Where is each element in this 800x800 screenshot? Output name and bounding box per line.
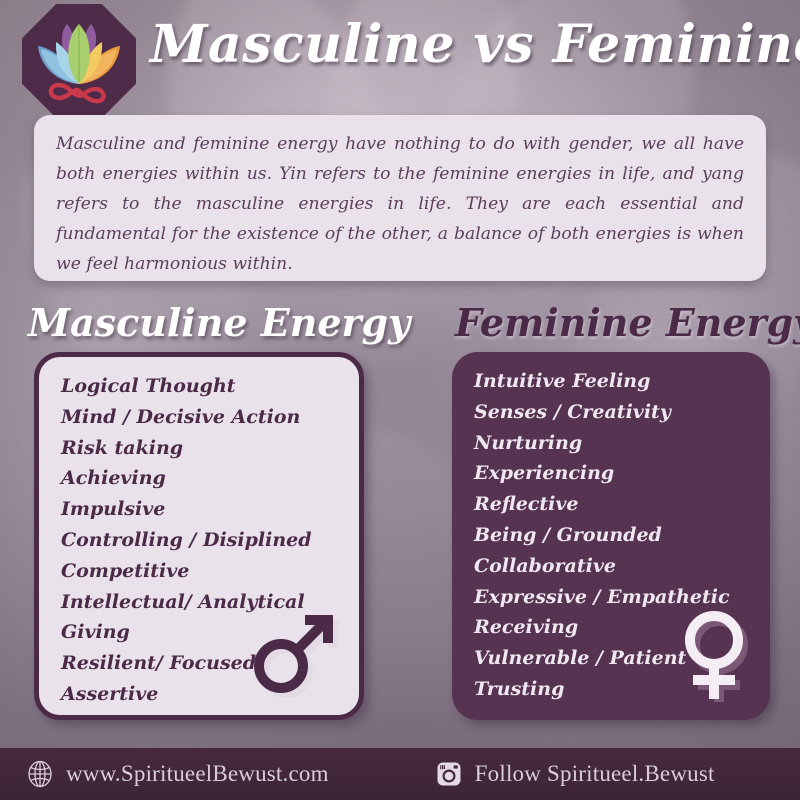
footer-bar: www.SpiritueelBewust.com Follow Spiritue… bbox=[0, 748, 800, 800]
list-item: Achieving bbox=[61, 463, 349, 494]
list-item: Being / Grounded bbox=[474, 520, 760, 551]
masculine-section-heading: Masculine Energy bbox=[28, 300, 410, 345]
list-item: Experiencing bbox=[474, 458, 760, 489]
list-item: Impulsive bbox=[61, 494, 349, 525]
list-item: Controlling / Disiplined bbox=[61, 525, 349, 556]
social-label: Follow Spiritueel.Bewust bbox=[475, 761, 715, 787]
list-item: Reflective bbox=[474, 489, 760, 520]
feminine-section-heading: Feminine Energy bbox=[455, 300, 800, 345]
list-item: Collaborative bbox=[474, 551, 760, 582]
intro-paragraph: Masculine and feminine energy have nothi… bbox=[56, 129, 744, 279]
lotus-infinity-logo-icon bbox=[22, 4, 136, 118]
list-item: Logical Thought bbox=[61, 371, 349, 402]
list-item: Nurturing bbox=[474, 428, 760, 459]
social-link[interactable]: Follow Spiritueel.Bewust bbox=[435, 760, 715, 788]
website-link[interactable]: www.SpiritueelBewust.com bbox=[26, 760, 329, 788]
infographic-canvas: Masculine vs Feminine Masculine and femi… bbox=[0, 0, 800, 800]
instagram-icon bbox=[435, 760, 463, 788]
intro-card: Masculine and feminine energy have nothi… bbox=[34, 115, 766, 281]
list-item: Competitive bbox=[61, 556, 349, 587]
header: Masculine vs Feminine bbox=[0, 0, 800, 118]
list-item: Senses / Creativity bbox=[474, 397, 760, 428]
list-item: Risk taking bbox=[61, 433, 349, 464]
list-item: Intuitive Feeling bbox=[474, 366, 760, 397]
globe-icon bbox=[26, 760, 54, 788]
mars-symbol-icon bbox=[250, 612, 342, 704]
list-item: Expressive / Empathetic bbox=[474, 582, 760, 613]
venus-symbol-icon bbox=[672, 610, 764, 702]
list-item: Mind / Decisive Action bbox=[61, 402, 349, 433]
website-label: www.SpiritueelBewust.com bbox=[66, 761, 329, 787]
page-title: Masculine vs Feminine bbox=[150, 14, 790, 75]
